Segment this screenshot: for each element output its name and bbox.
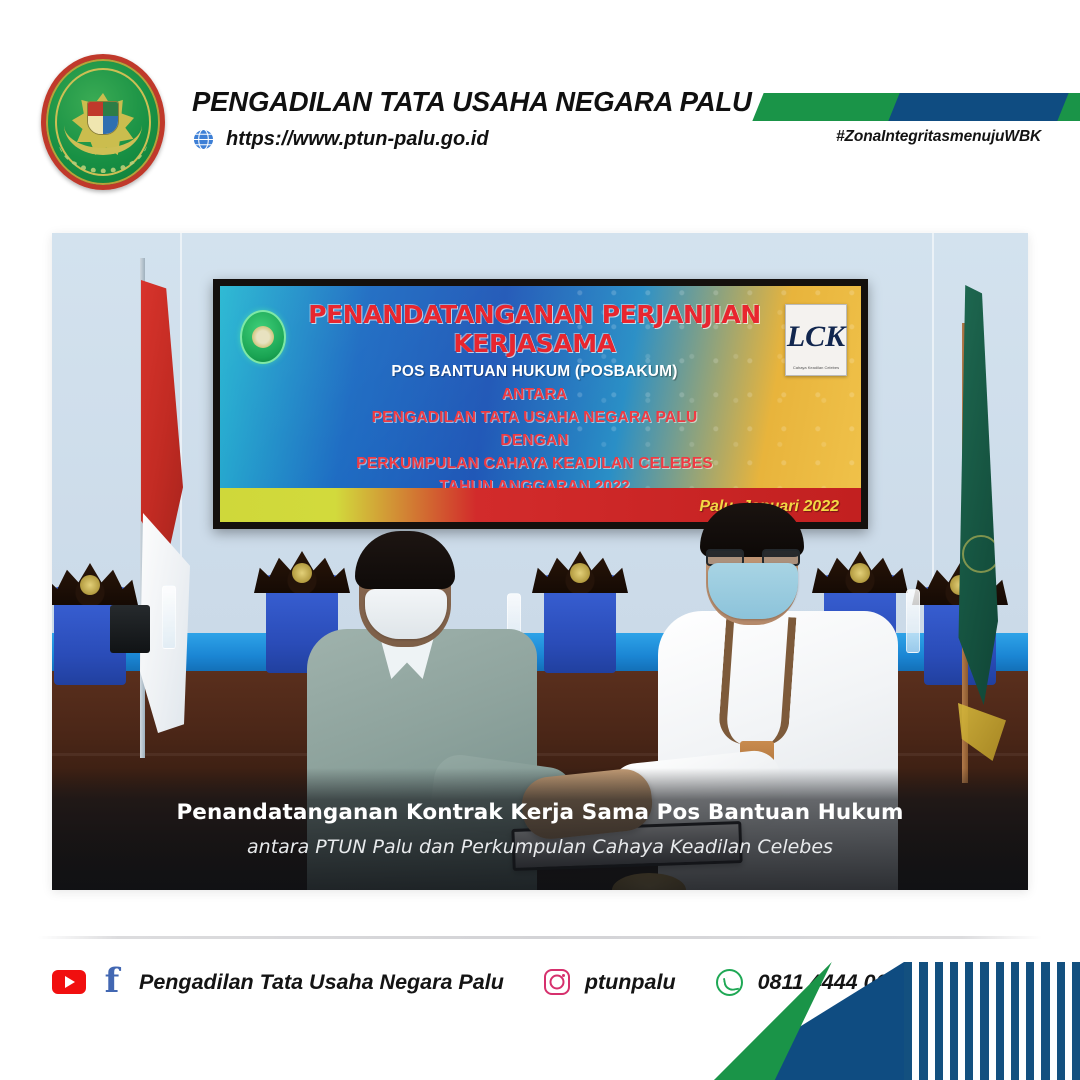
organization-title: PENGADILAN TATA USAHA NEGARA PALU	[192, 86, 752, 118]
header-titles: PENGADILAN TATA USAHA NEGARA PALU https:…	[192, 86, 752, 151]
caption-subtitle: antara PTUN Palu dan Perkumpulan Cahaya …	[247, 836, 833, 858]
seal-oval	[41, 54, 165, 190]
banner-line-2: POS BANTUAN HUKUM (POSBAKUM)	[290, 363, 779, 381]
website-url[interactable]: https://www.ptun-palu.go.id	[226, 128, 489, 151]
partner-logo-caption: Cahaya Keadilan Celebes	[786, 365, 846, 370]
zona-integritas-hashtag: #ZonaIntegritasmenujuWBK	[836, 128, 1041, 146]
photo-caption: Penandatanganan Kontrak Kerja Sama Pos B…	[52, 768, 1028, 890]
banner-headline: PENANDATANGANAN PERJANJIAN KERJASAMA	[290, 300, 779, 358]
court-flag	[936, 263, 1000, 783]
youtube-icon[interactable]	[52, 970, 86, 994]
facebook-icon[interactable]: f	[101, 967, 123, 997]
partner-logo-mark: LCK	[787, 320, 845, 354]
footer-stripe-bars	[904, 962, 1080, 1080]
header: PENGADILAN TATA USAHA NEGARA PALU https:…	[0, 0, 1080, 210]
face-mask	[708, 563, 798, 619]
sanitizer-bottle	[906, 589, 920, 653]
instagram-handle[interactable]: ptunpalu	[585, 970, 676, 995]
chair	[532, 551, 628, 673]
banner-court-logo-icon	[240, 310, 286, 364]
footer-divider	[38, 936, 1042, 939]
banner-line-6: PERKUMPULAN CAHAYA KEADILAN CELEBES	[290, 455, 779, 473]
partner-logo: LCK Cahaya Keadilan Celebes	[785, 304, 847, 376]
footer-corner-wedge	[714, 962, 904, 1080]
seal-wreath	[58, 139, 148, 173]
header-accent-band	[758, 93, 1080, 121]
banner-text-block: PENANDATANGANAN PERJANJIAN KERJASAMA POS…	[290, 300, 779, 496]
speaker-box	[110, 605, 150, 653]
event-banner-board: LCK Cahaya Keadilan Celebes PENANDATANGA…	[213, 279, 868, 529]
caption-title: Penandatanganan Kontrak Kerja Sama Pos B…	[176, 800, 903, 825]
lanyard	[718, 613, 797, 748]
instagram-icon[interactable]	[544, 969, 570, 995]
court-logo	[33, 52, 173, 192]
banner-line-5: DENGAN	[290, 432, 779, 450]
banner-line-4: PENGADILAN TATA USAHA NEGARA PALU	[290, 409, 779, 427]
sanitizer-bottle	[162, 585, 176, 649]
social-account-name[interactable]: Pengadilan Tata Usaha Negara Palu	[139, 970, 504, 995]
banner-line-3: ANTARA	[290, 386, 779, 404]
event-photo: LCK Cahaya Keadilan Celebes PENANDATANGA…	[52, 233, 1028, 890]
website-row: https://www.ptun-palu.go.id	[192, 128, 752, 151]
globe-icon	[192, 128, 215, 151]
indonesian-flag	[120, 258, 190, 758]
footer: f Pengadilan Tata Usaha Negara Palu ptun…	[0, 940, 1080, 1080]
